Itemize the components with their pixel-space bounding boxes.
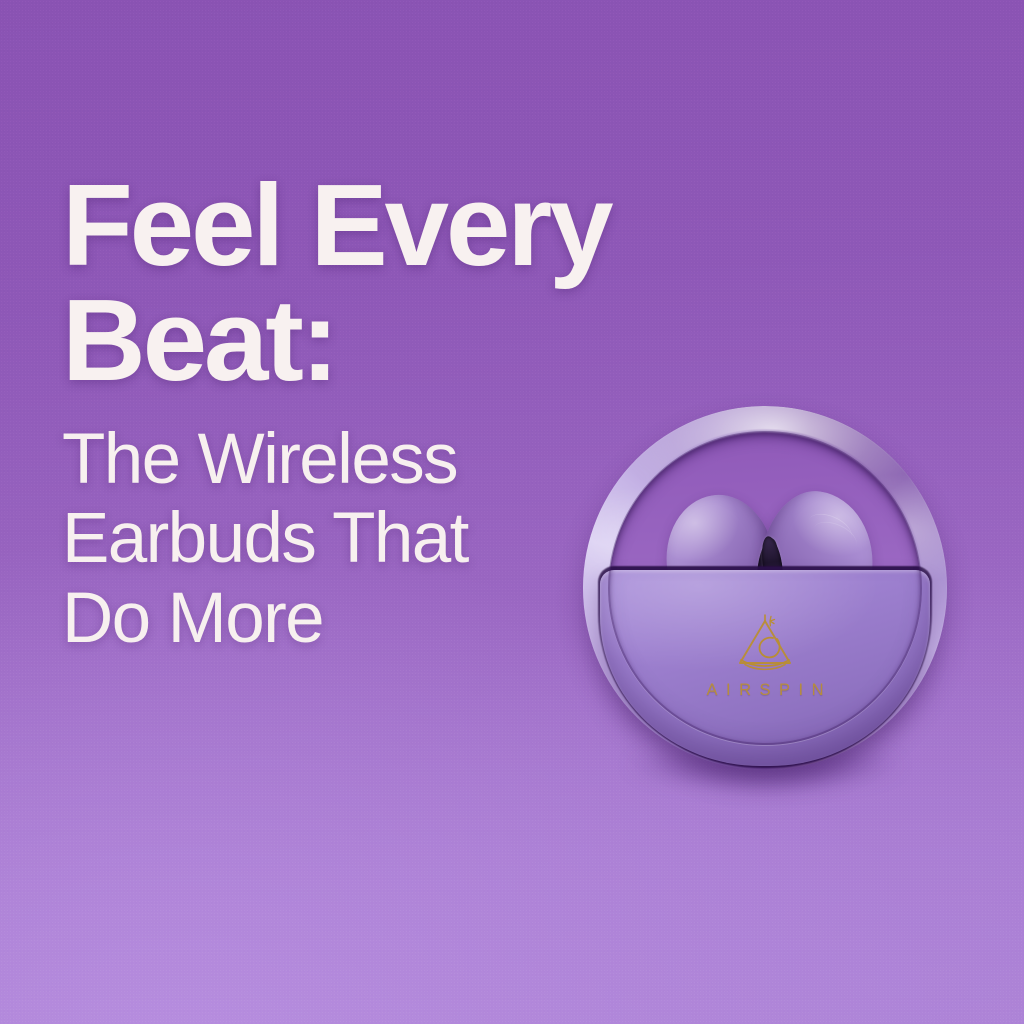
brand-wordmark: AIRSPIN <box>575 681 955 700</box>
promo-poster: Feel Every Beat: The Wireless Earbuds Th… <box>0 0 1024 1024</box>
copy-block: Feel Every Beat: The Wireless Earbuds Th… <box>62 168 702 658</box>
page-title: Feel Every Beat: <box>62 168 702 398</box>
airspin-triangle-swirl-icon <box>728 613 802 675</box>
page-subtitle: The Wireless Earbuds That Do More <box>62 420 702 659</box>
